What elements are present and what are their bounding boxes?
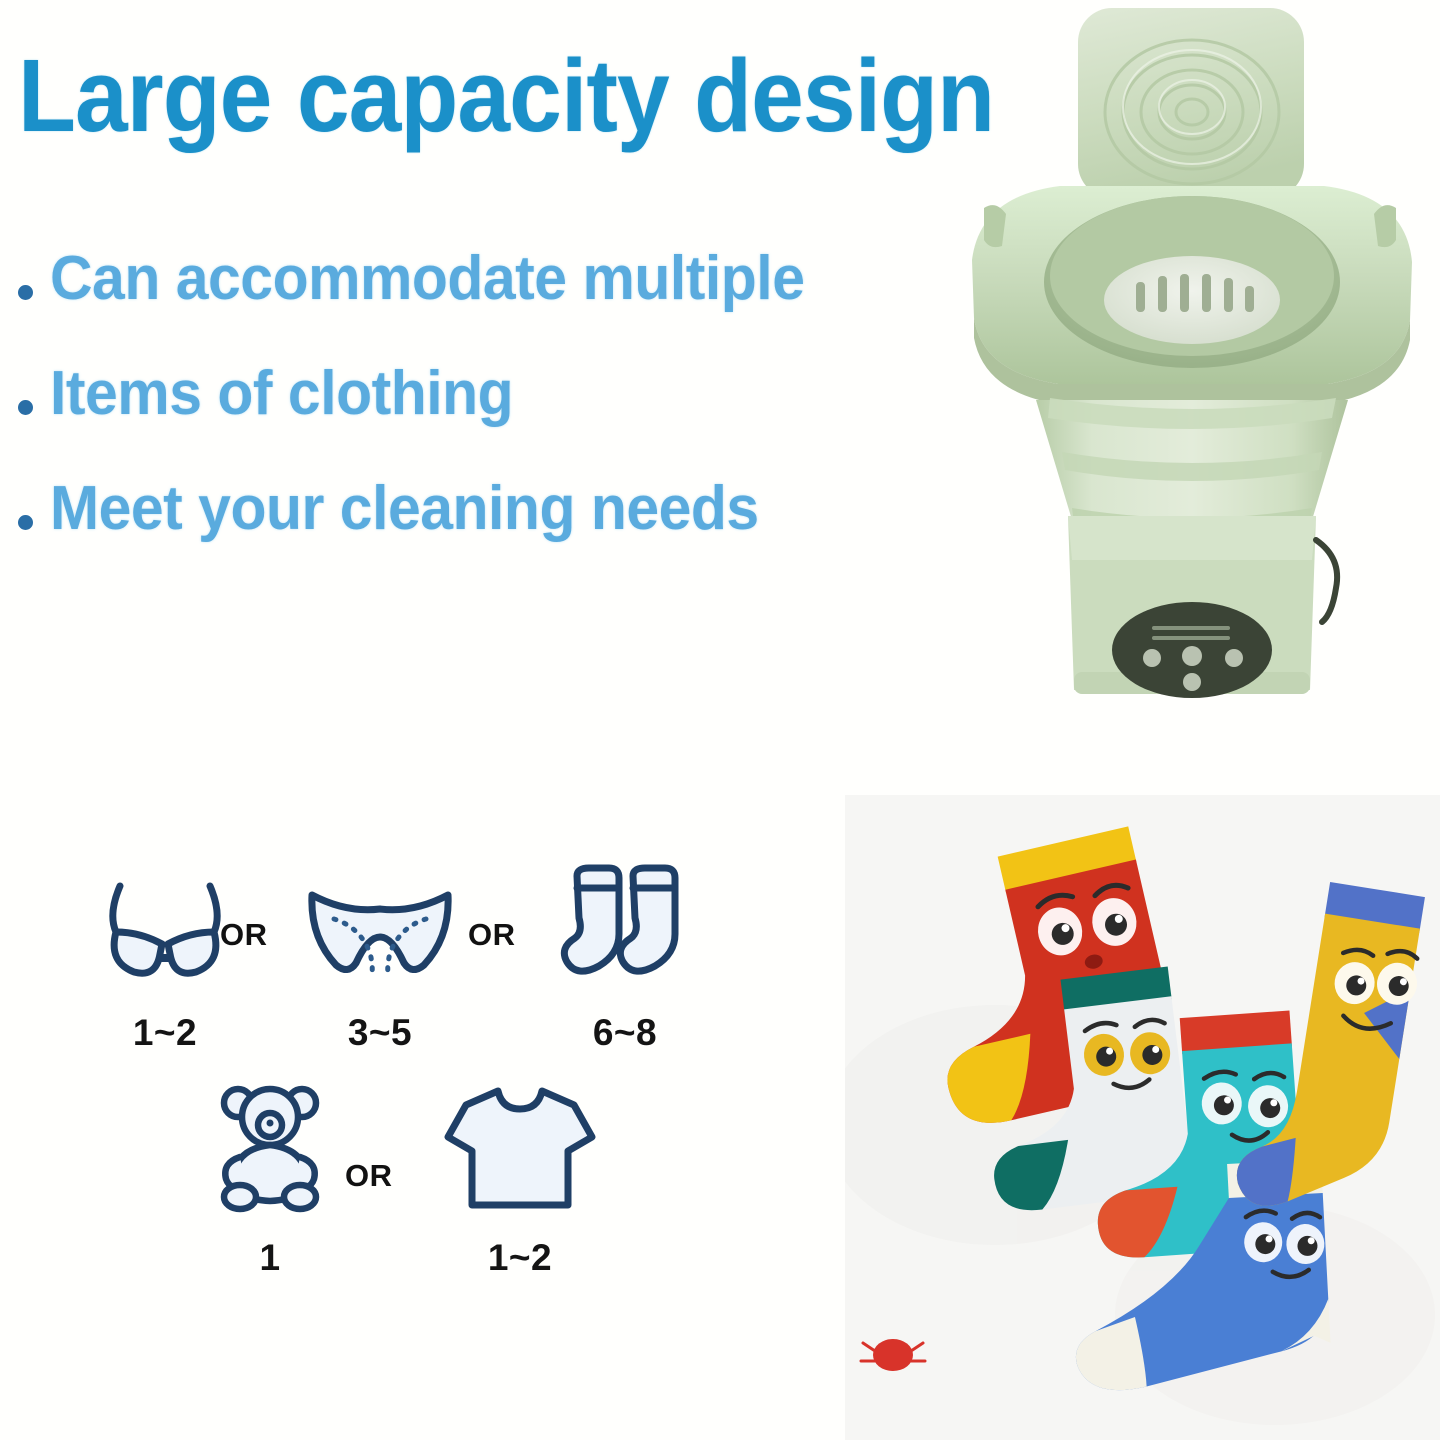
- list-item: Can accommodate multiple: [8, 245, 908, 360]
- list-item: Meet your cleaning needs: [8, 475, 908, 590]
- control-panel[interactable]: [1112, 602, 1272, 698]
- tshirt-icon: [415, 1080, 625, 1215]
- panel-button[interactable]: [1183, 673, 1201, 691]
- product-photo-washing-machine: [940, 0, 1440, 740]
- feature-bullet-list: Can accommodate multiple Items of clothi…: [8, 245, 908, 590]
- washer-top-rim: [972, 186, 1412, 404]
- panel-button[interactable]: [1182, 646, 1202, 666]
- or-separator: OR: [220, 917, 268, 953]
- capacity-row: 1 OR 1~2: [70, 1080, 730, 1295]
- or-separator: OR: [345, 1158, 393, 1194]
- bullet-dot-icon: [18, 515, 33, 530]
- capacity-item-bra: 1~2: [70, 855, 260, 1054]
- bullet-dot-icon: [18, 400, 33, 415]
- promo-graphic: Large capacity design Can accommodate mu…: [0, 0, 1440, 1440]
- cartoon-socks-illustration: [845, 795, 1440, 1440]
- capacity-item-teddy-bear: 1: [175, 1080, 365, 1279]
- washer-bellows-body: [1036, 398, 1348, 534]
- bullet-label: Items of clothing: [50, 362, 513, 425]
- product-photo-socks: [845, 795, 1440, 1440]
- capacity-item-underwear: 3~5: [285, 855, 475, 1054]
- or-separator: OR: [468, 917, 516, 953]
- capacity-quantity: 1~2: [415, 1237, 625, 1279]
- washer-lid: [1078, 8, 1304, 214]
- panel-button[interactable]: [1225, 649, 1243, 667]
- capacity-icon-grid: 1~2 OR 3~5 OR: [70, 855, 730, 1295]
- bullet-label: Meet your cleaning needs: [50, 477, 759, 540]
- page-title: Large capacity design: [18, 42, 947, 150]
- capacity-quantity: 1~2: [70, 1012, 260, 1054]
- capacity-row: 1~2 OR 3~5 OR: [70, 855, 730, 1080]
- capacity-quantity: 1: [175, 1237, 365, 1279]
- capacity-item-socks: 6~8: [530, 855, 720, 1054]
- underwear-icon: [285, 855, 475, 990]
- teddy-bear-icon: [175, 1080, 365, 1215]
- socks-icon: [530, 855, 720, 990]
- panel-button[interactable]: [1143, 649, 1161, 667]
- bullet-label: Can accommodate multiple: [50, 247, 804, 310]
- washing-machine-illustration: [940, 0, 1440, 740]
- capacity-quantity: 6~8: [530, 1012, 720, 1054]
- capacity-quantity: 3~5: [285, 1012, 475, 1054]
- capacity-item-tshirt: 1~2: [415, 1080, 625, 1279]
- bullet-dot-icon: [18, 285, 33, 300]
- list-item: Items of clothing: [8, 360, 908, 475]
